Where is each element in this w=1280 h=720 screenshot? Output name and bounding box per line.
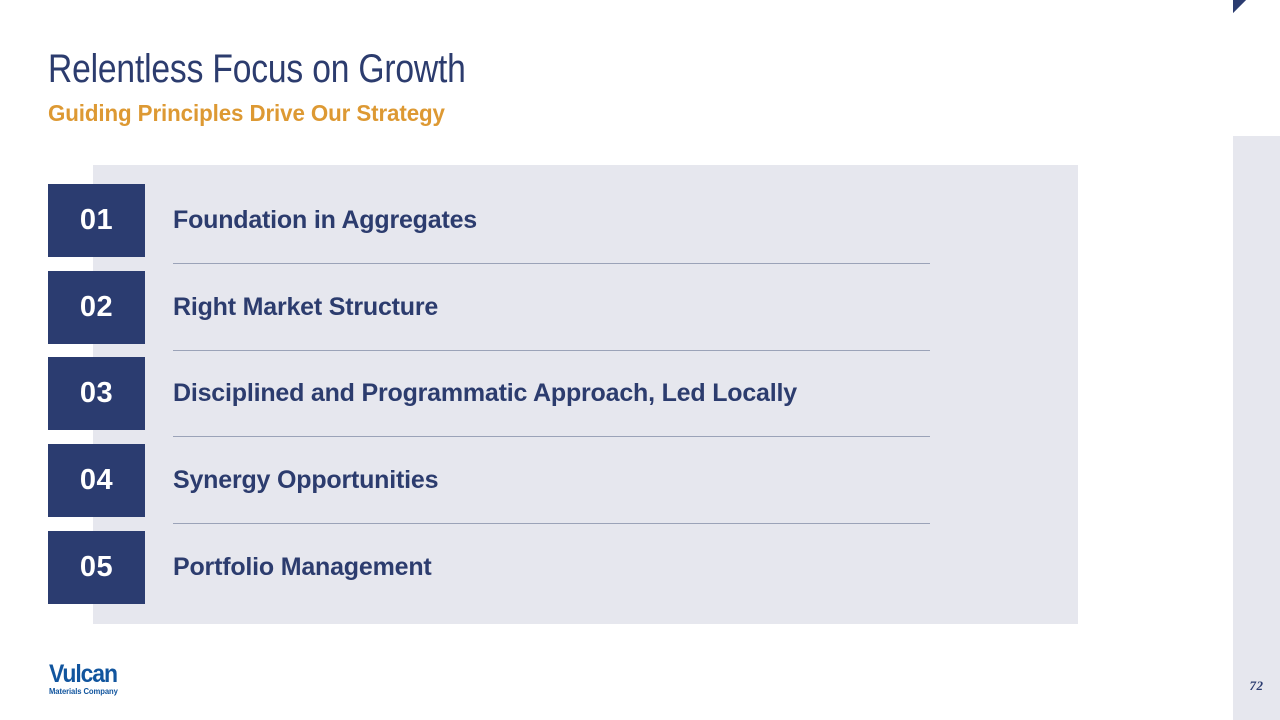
row-divider — [173, 263, 930, 264]
row-divider — [173, 523, 930, 524]
principle-row[interactable]: 01 Foundation in Aggregates — [0, 184, 1280, 257]
principle-label: Synergy Opportunities — [173, 444, 438, 517]
principle-row[interactable]: 05 Portfolio Management — [0, 531, 1280, 604]
row-divider — [173, 350, 930, 351]
vulcan-logo: Vulcan Materials Company — [49, 662, 129, 694]
principle-number-badge: 05 — [48, 531, 145, 604]
row-divider — [173, 436, 930, 437]
principle-row[interactable]: 02 Right Market Structure — [0, 271, 1280, 344]
diagonal-stripe-outer — [1233, 0, 1272, 160]
principle-number-text: 01 — [80, 206, 113, 235]
principle-number-text: 03 — [80, 379, 113, 408]
page-number: 72 — [1233, 678, 1280, 694]
principle-label: Disciplined and Programmatic Approach, L… — [173, 357, 797, 430]
logo-tagline: Materials Company — [49, 688, 126, 696]
diagonal-stripes-group — [1233, 0, 1280, 160]
principle-number-text: 02 — [80, 293, 113, 322]
principle-number-badge: 04 — [48, 444, 145, 517]
principle-number-text: 05 — [80, 553, 113, 582]
page-subtitle: Guiding Principles Drive Our Strategy — [48, 100, 445, 128]
principle-number-badge: 01 — [48, 184, 145, 257]
principle-label: Foundation in Aggregates — [173, 184, 477, 257]
principle-row[interactable]: 03 Disciplined and Programmatic Approach… — [0, 357, 1280, 430]
principle-number-text: 04 — [80, 466, 113, 495]
principle-number-badge: 02 — [48, 271, 145, 344]
principle-label: Portfolio Management — [173, 531, 432, 604]
logo-wordmark: Vulcan — [49, 662, 123, 687]
slide-canvas: 72 Relentless Focus on Growth Guiding Pr… — [0, 0, 1280, 720]
principle-label: Right Market Structure — [173, 271, 438, 344]
principle-number-badge: 03 — [48, 357, 145, 430]
page-title: Relentless Focus on Growth — [48, 47, 466, 92]
principle-row[interactable]: 04 Synergy Opportunities — [0, 444, 1280, 517]
